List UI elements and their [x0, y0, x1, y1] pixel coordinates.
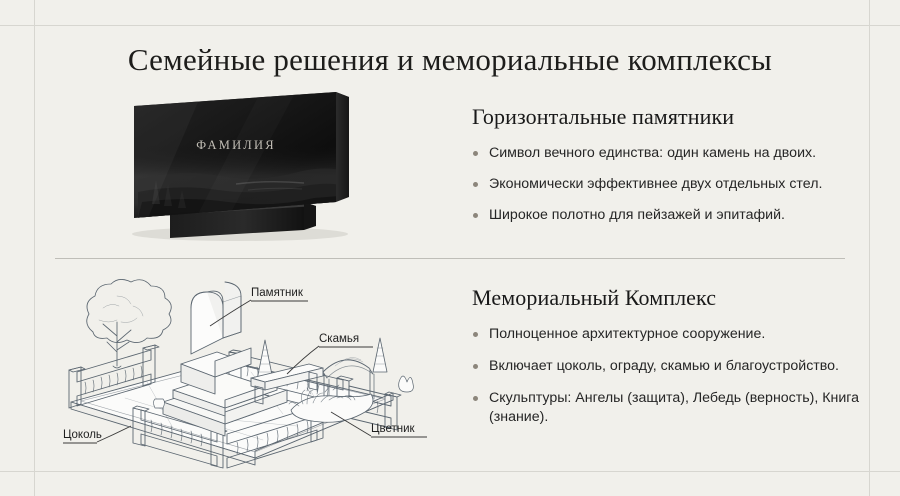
section-heading-complex: Мемориальный Комплекс [472, 285, 872, 311]
bullet-dot-icon [473, 151, 478, 156]
list-item: Экономически эффективнее двух отдельных … [472, 175, 872, 194]
list-item-text: Скульптуры: Ангелы (защита), Лебедь (вер… [489, 390, 859, 425]
section-heading-horizontal: Горизонтальные памятники [472, 104, 872, 130]
bullet-dot-icon [473, 332, 478, 337]
list-item-text: Широкое полотно для пейзажей и эпитафий. [489, 207, 785, 223]
bullet-list-horizontal: Символ вечного единства: один камень на … [472, 144, 872, 225]
bullet-dot-icon [473, 364, 478, 369]
frame-line-horizontal-bottom [0, 471, 900, 472]
memorial-complex-diagram: Памятник Скамья Цоколь Цветник [55, 262, 455, 470]
diagram-label-flowerbed: Цветник [371, 423, 416, 435]
list-item-text: Символ вечного единства: один камень на … [489, 145, 816, 161]
diagram-label-plinth: Цоколь [63, 429, 102, 441]
list-item-text: Полноценное архитектурное сооружение. [489, 326, 765, 342]
engraved-surname-text: ФАМИЛИЯ [196, 138, 276, 152]
bullet-dot-icon [473, 182, 478, 187]
list-item: Включает цоколь, ограду, скамью и благоу… [472, 357, 872, 376]
list-item: Скульптуры: Ангелы (защита), Лебедь (вер… [472, 389, 872, 427]
frame-line-horizontal-top [0, 25, 900, 26]
horizontal-monument-image: ФАМИЛИЯ [108, 84, 378, 244]
bullet-dot-icon [473, 213, 478, 218]
list-item: Полноценное архитектурное сооружение. [472, 325, 872, 344]
section-memorial-complex: Мемориальный Комплекс Полноценное архите… [472, 285, 872, 440]
section-divider [55, 258, 845, 259]
list-item: Символ вечного единства: один камень на … [472, 144, 872, 163]
bullet-dot-icon [473, 396, 478, 401]
list-item: Широкое полотно для пейзажей и эпитафий. [472, 206, 872, 225]
diagram-label-bench: Скамья [319, 333, 359, 345]
list-item-text: Экономически эффективнее двух отдельных … [489, 176, 822, 192]
list-item-text: Включает цоколь, ограду, скамью и благоу… [489, 358, 839, 374]
page-title: Семейные решения и мемориальные комплекс… [0, 42, 900, 78]
section-horizontal-monuments: Горизонтальные памятники Символ вечного … [472, 104, 872, 237]
diagram-label-monument: Памятник [251, 287, 304, 299]
bullet-list-complex: Полноценное архитектурное сооружение. Вк… [472, 325, 872, 427]
